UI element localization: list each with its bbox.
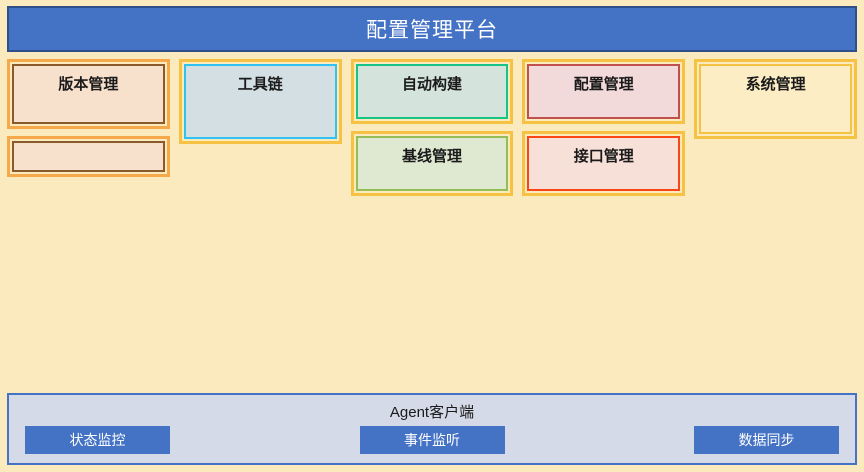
panel-title: 配置管理 bbox=[537, 71, 670, 100]
panel-title: 工具链 bbox=[194, 71, 327, 100]
panel-item-list: 主机信息配置 产品线项目配置 角色项目配置 bbox=[537, 100, 670, 110]
agent-button-data-sync[interactable]: 数据同步 bbox=[694, 426, 839, 454]
column-version-management: 版本管理 GIT版本库管理 生产版本管理 测试版本管理 开发版本管理 GIT版本… bbox=[7, 59, 170, 386]
panel-title: 接口管理 bbox=[537, 143, 670, 172]
column-system-management: 系统管理 用户管理 组织机构管理 静态数据管理 日志管理 修改密码 角色权限管理 bbox=[694, 59, 857, 386]
panel-item-list: 日常构建 编译区管理 工作区恢复 bbox=[366, 100, 499, 110]
panel-version-management-1: 版本管理 GIT版本库管理 生产版本管理 测试版本管理 开发版本管理 bbox=[7, 59, 170, 129]
panel-interface-management: 接口管理 工具链接口管理 发布接口管理 外部系统接口管理 bbox=[522, 131, 685, 196]
agent-button-row: 状态监控 事件监听 数据同步 bbox=[19, 426, 845, 455]
panel-item-list: GIT版本库管理 生产版本管理 测试版本管理 开发版本管理 bbox=[22, 100, 155, 115]
panel-auto-build: 自动构建 日常构建 编译区管理 工作区恢复 bbox=[351, 59, 514, 124]
panel-item-list: GIT版本库管理 生产版本管理 测试版本管理 开发版本管理 bbox=[22, 148, 155, 163]
panel-baseline-management: 基线管理 基线日志管理 历史基线管理 基线预警 bbox=[351, 131, 514, 196]
panel-item-list: 质量检测管理 Maven Ant Jenkins Sonar Fis Nexus… bbox=[194, 100, 327, 130]
platform-header: 配置管理平台 bbox=[7, 6, 857, 52]
column-toolchain: 工具链 质量检测管理 Maven Ant Jenkins Sonar Fis N… bbox=[179, 59, 342, 386]
agent-client-title: Agent客户端 bbox=[19, 399, 845, 426]
column-configuration: 配置管理 主机信息配置 产品线项目配置 角色项目配置 接口管理 工具链接口管理 … bbox=[522, 59, 685, 386]
agent-button-status-monitor[interactable]: 状态监控 bbox=[25, 426, 170, 454]
panel-title: 版本管理 bbox=[22, 71, 155, 100]
panel-title: 基线管理 bbox=[366, 143, 499, 172]
panel-toolchain: 工具链 质量检测管理 Maven Ant Jenkins Sonar Fis N… bbox=[179, 59, 342, 144]
agent-client-bar: Agent客户端 状态监控 事件监听 数据同步 bbox=[7, 393, 857, 465]
module-columns: 版本管理 GIT版本库管理 生产版本管理 测试版本管理 开发版本管理 GIT版本… bbox=[7, 59, 857, 386]
agent-button-event-listener[interactable]: 事件监听 bbox=[360, 426, 505, 454]
panel-configuration-management: 配置管理 主机信息配置 产品线项目配置 角色项目配置 bbox=[522, 59, 685, 124]
panel-system-management: 系统管理 用户管理 组织机构管理 静态数据管理 日志管理 修改密码 角色权限管理 bbox=[694, 59, 857, 139]
panel-title: 自动构建 bbox=[366, 71, 499, 100]
panel-item-list: 基线日志管理 历史基线管理 基线预警 bbox=[366, 172, 499, 182]
panel-title: 系统管理 bbox=[709, 71, 842, 100]
column-auto-build: 自动构建 日常构建 编译区管理 工作区恢复 基线管理 基线日志管理 历史基线管理… bbox=[351, 59, 514, 386]
page-title: 配置管理平台 bbox=[366, 14, 498, 44]
panel-version-management-2: GIT版本库管理 生产版本管理 测试版本管理 开发版本管理 bbox=[7, 136, 170, 177]
panel-item-list: 工具链接口管理 发布接口管理 外部系统接口管理 bbox=[537, 172, 670, 182]
panel-item-list: 用户管理 组织机构管理 静态数据管理 日志管理 修改密码 角色权限管理 bbox=[709, 100, 842, 125]
